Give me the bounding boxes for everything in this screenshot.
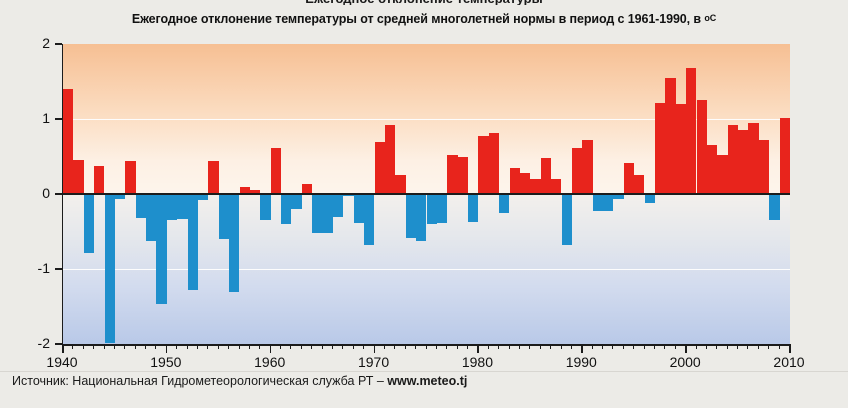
bar-1992 (603, 194, 613, 211)
x-tick-minor (114, 344, 115, 349)
x-tick-minor (509, 344, 510, 349)
x-tick-minor (550, 344, 551, 349)
x-tick-minor (540, 344, 541, 349)
y-tick (55, 43, 62, 45)
bar-1978 (458, 157, 468, 195)
x-tick-label: 1950 (136, 354, 196, 370)
y-tick (55, 268, 62, 270)
page-title-text: Ежегодное отклонение температуры от сред… (132, 12, 705, 26)
y-tick-label: 1 (10, 110, 50, 126)
x-tick-label: 1940 (32, 354, 92, 370)
x-tick-minor (218, 344, 219, 349)
x-tick-major (477, 344, 479, 353)
bar-1960 (271, 148, 281, 195)
bar-2004 (728, 125, 738, 194)
x-tick-major (270, 344, 272, 353)
x-tick-minor (145, 344, 146, 349)
bar-1985 (530, 179, 540, 194)
x-tick-minor (332, 344, 333, 349)
x-tick-minor (446, 344, 447, 349)
y-tick-label: -2 (10, 335, 50, 351)
bar-2007 (759, 140, 769, 194)
bar-1981 (489, 133, 499, 195)
y-tick-label: 2 (10, 35, 50, 51)
bar-1969 (364, 194, 374, 245)
bar-2000 (686, 68, 696, 194)
y-tick (55, 193, 62, 195)
x-tick-minor (322, 344, 323, 349)
x-tick-minor (696, 344, 697, 349)
cropped-headline: Ежегодное отклонение температуры (0, 0, 848, 5)
x-tick-minor (602, 344, 603, 349)
bar-1980 (478, 136, 488, 195)
x-tick-minor (779, 344, 780, 349)
bar-1966 (333, 194, 343, 217)
bar-1983 (510, 168, 520, 194)
bar-1962 (291, 194, 301, 209)
x-tick-label: 1960 (240, 354, 300, 370)
x-tick-minor (488, 344, 489, 349)
x-tick-major (685, 344, 687, 353)
x-tick-minor (457, 344, 458, 349)
bar-1949 (156, 194, 166, 304)
x-tick-minor (747, 344, 748, 349)
x-tick-major (166, 344, 168, 353)
bar-1940 (63, 89, 73, 194)
bar-1943 (94, 166, 104, 195)
bar-1956 (229, 194, 239, 292)
x-tick-minor (467, 344, 468, 349)
x-tick-minor (135, 344, 136, 349)
bar-1993 (613, 194, 623, 199)
x-tick-minor (228, 344, 229, 349)
x-tick-minor (737, 344, 738, 349)
bar-1984 (520, 173, 530, 194)
x-tick-minor (623, 344, 624, 349)
bar-2009 (780, 118, 790, 195)
x-tick-minor (644, 344, 645, 349)
y-tick (55, 118, 62, 120)
bar-1950 (167, 194, 177, 220)
x-tick-minor (104, 344, 105, 349)
bar-1977 (447, 155, 457, 194)
bar-2001 (697, 100, 707, 194)
y-tick-label: 0 (10, 185, 50, 201)
x-tick-label: 2000 (655, 354, 715, 370)
x-tick-minor (187, 344, 188, 349)
bar-1952 (188, 194, 198, 290)
x-tick-minor (301, 344, 302, 349)
bar-1982 (499, 194, 509, 213)
bar-1996 (645, 194, 655, 203)
x-tick-major (374, 344, 376, 353)
bar-1942 (84, 194, 94, 253)
x-tick-major (62, 344, 64, 353)
x-tick-minor (155, 344, 156, 349)
bar-1986 (541, 158, 551, 194)
page-title-unit: оС (704, 13, 716, 23)
bar-1953 (198, 194, 208, 200)
bar-1954 (208, 161, 218, 194)
bar-1976 (437, 194, 447, 223)
x-tick-minor (727, 344, 728, 349)
bar-1990 (582, 140, 592, 194)
x-tick-minor (415, 344, 416, 349)
bar-1945 (115, 194, 125, 199)
x-tick-minor (311, 344, 312, 349)
x-tick-minor (436, 344, 437, 349)
x-tick-minor (176, 344, 177, 349)
bar-1997 (655, 103, 665, 195)
plot-frame (62, 44, 790, 344)
bar-1979 (468, 194, 478, 222)
bar-2006 (748, 123, 758, 194)
bar-1989 (572, 148, 582, 195)
bar-1947 (136, 194, 146, 218)
x-tick-minor (197, 344, 198, 349)
bar-1964 (312, 194, 322, 233)
x-tick-minor (561, 344, 562, 349)
bar-1972 (395, 175, 405, 194)
x-tick-minor (519, 344, 520, 349)
x-tick-minor (239, 344, 240, 349)
bar-1959 (260, 194, 270, 220)
x-tick-label: 1980 (447, 354, 507, 370)
x-tick-minor (612, 344, 613, 349)
bar-1948 (146, 194, 156, 241)
x-tick-minor (249, 344, 250, 349)
bar-1946 (125, 161, 135, 194)
x-tick-label: 1990 (551, 354, 611, 370)
x-tick-minor (571, 344, 572, 349)
x-tick-minor (342, 344, 343, 349)
x-tick-minor (716, 344, 717, 349)
zero-baseline (63, 193, 790, 195)
x-tick-minor (290, 344, 291, 349)
bar-1999 (676, 104, 686, 194)
x-tick-minor (72, 344, 73, 349)
x-tick-minor (394, 344, 395, 349)
x-tick-minor (426, 344, 427, 349)
bar-1970 (375, 142, 385, 195)
x-tick-minor (664, 344, 665, 349)
bar-1998 (665, 78, 675, 194)
x-tick-minor (498, 344, 499, 349)
bar-1987 (551, 179, 561, 194)
page-title: Ежегодное отклонение температуры от сред… (0, 12, 848, 26)
bar-1965 (323, 194, 333, 233)
x-tick-label: 2010 (759, 354, 819, 370)
bar-1973 (406, 194, 416, 238)
x-tick-minor (353, 344, 354, 349)
x-tick-minor (654, 344, 655, 349)
x-tick-minor (93, 344, 94, 349)
source-caption: Источник: Национальная Гидрометеорологич… (12, 374, 467, 388)
bar-2003 (717, 155, 727, 194)
bar-1991 (593, 194, 603, 211)
gridline (63, 269, 790, 270)
y-tick-label: -1 (10, 260, 50, 276)
bar-1951 (177, 194, 187, 219)
bar-1941 (73, 160, 83, 194)
chart-page: Ежегодное отклонение температуры Ежегодн… (0, 0, 848, 408)
bar-1995 (634, 175, 644, 194)
x-tick-minor (706, 344, 707, 349)
bar-2005 (738, 130, 748, 194)
x-tick-minor (592, 344, 593, 349)
x-tick-minor (384, 344, 385, 349)
x-tick-major (581, 344, 583, 353)
bar-1994 (624, 163, 634, 195)
bar-1988 (562, 194, 572, 245)
x-tick-major (789, 344, 791, 353)
bar-1955 (219, 194, 229, 239)
x-tick-minor (405, 344, 406, 349)
source-link[interactable]: www.meteo.tj (387, 374, 467, 388)
x-tick-minor (758, 344, 759, 349)
bar-1975 (427, 194, 437, 224)
x-tick-minor (280, 344, 281, 349)
bar-2008 (769, 194, 779, 220)
x-tick-minor (633, 344, 634, 349)
x-tick-minor (124, 344, 125, 349)
x-tick-minor (259, 344, 260, 349)
x-tick-minor (207, 344, 208, 349)
x-tick-minor (83, 344, 84, 349)
x-tick-minor (529, 344, 530, 349)
y-tick (55, 343, 62, 345)
bar-1968 (354, 194, 364, 223)
x-tick-minor (675, 344, 676, 349)
bar-2002 (707, 145, 717, 194)
bar-1971 (385, 125, 395, 194)
x-tick-minor (363, 344, 364, 349)
source-prefix: Источник: Национальная Гидрометеорологич… (12, 374, 387, 388)
bar-1961 (281, 194, 291, 224)
plot-area (63, 44, 790, 344)
bar-1974 (416, 194, 426, 241)
footer-divider (0, 371, 848, 372)
x-tick-label: 1970 (344, 354, 404, 370)
x-tick-minor (768, 344, 769, 349)
bar-1944 (105, 194, 115, 343)
